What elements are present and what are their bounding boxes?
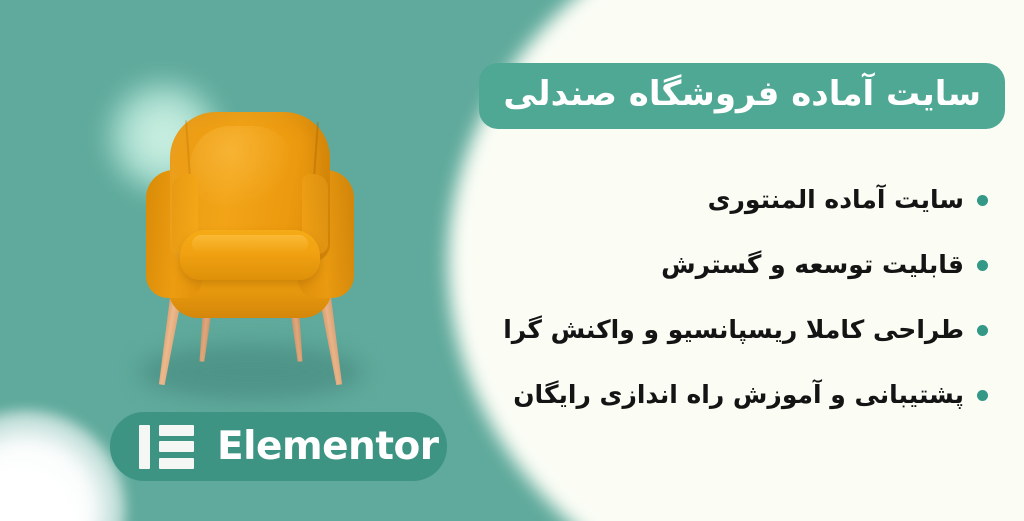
chair-backrest-highlight xyxy=(190,126,294,210)
feature-list: سایت آماده المنتوری قابلیت توسعه و گسترش… xyxy=(468,178,988,438)
list-item-label: پشتیبانی و آموزش راه اندازی رایگان xyxy=(513,379,964,410)
bullet-dot-icon xyxy=(977,195,988,206)
elementor-logo-bars-horizontal xyxy=(159,425,194,469)
bullet-dot-icon xyxy=(977,390,988,401)
list-item-label: قابلیت توسعه و گسترش xyxy=(661,249,964,280)
page-title: سایت آماده فروشگاه صندلی xyxy=(479,63,1005,129)
list-item-label: سایت آماده المنتوری xyxy=(708,184,964,215)
list-item: پشتیبانی و آموزش راه اندازی رایگان xyxy=(468,373,988,417)
list-item: سایت آماده المنتوری xyxy=(468,178,988,222)
chair-seat-highlight xyxy=(192,235,308,253)
armchair-illustration xyxy=(132,112,368,394)
elementor-logo-bar-middle xyxy=(159,441,194,452)
elementor-logo-bar-bottom xyxy=(159,458,194,469)
elementor-logo-icon xyxy=(139,425,194,469)
elementor-logo-bar-vertical xyxy=(139,425,150,469)
bullet-dot-icon xyxy=(977,260,988,271)
bullet-dot-icon xyxy=(977,325,988,336)
elementor-wordmark: Elementor xyxy=(217,427,438,466)
list-item: قابلیت توسعه و گسترش xyxy=(468,243,988,287)
elementor-logo-bar-top xyxy=(159,425,194,436)
promo-banner: سایت آماده فروشگاه صندلی سایت آماده المن… xyxy=(0,0,1024,521)
list-item: طراحی کاملا ریسپانسیو و واکنش گرا xyxy=(468,308,988,352)
list-item-label: طراحی کاملا ریسپانسیو و واکنش گرا xyxy=(503,314,964,345)
elementor-badge: Elementor xyxy=(110,412,447,481)
